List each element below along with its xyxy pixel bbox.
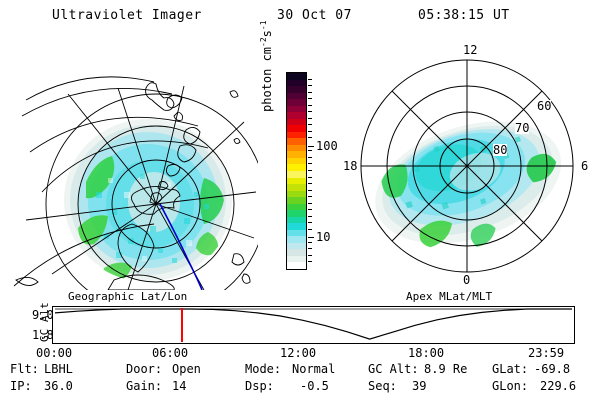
mlt-label-6: 6 (581, 160, 588, 172)
colorbar-minor-tick (308, 248, 312, 249)
orbit-xtick-0: 00:00 (36, 346, 72, 360)
colorbar-minor-tick (308, 137, 312, 138)
meta-mode-value: Normal (292, 362, 335, 376)
orbit-xtick-4: 23:59 (528, 346, 564, 360)
orbit-altitude-plot[interactable] (52, 306, 575, 344)
geographic-map-panel[interactable] (8, 42, 258, 290)
colorbar-minor-tick (308, 209, 312, 210)
colorbar-minor-tick (308, 261, 312, 262)
geographic-map-svg (8, 42, 258, 290)
header-bar: Ultraviolet Imager 30 Oct 07 05:38:15 UT (0, 8, 600, 28)
colorbar-minor-tick (308, 92, 312, 93)
orbit-xtick-1: 06:00 (152, 346, 188, 360)
aurora-emission-apex (360, 100, 580, 274)
mlt-label-12: 12 (463, 44, 477, 56)
aurora-emission-geographic (64, 119, 232, 284)
orbit-xtick-3: 18:00 (408, 346, 444, 360)
colorbar-minor-tick (308, 105, 312, 106)
colorbar-band (287, 262, 306, 269)
apex-panel-caption: Apex MLat/MLT (406, 290, 492, 303)
colorbar-minor-tick (308, 203, 312, 204)
colorbar-minor-tick (308, 118, 312, 119)
colorbar-minor-tick (308, 79, 312, 80)
colorbar-minor-tick (308, 111, 312, 112)
mlt-spokes (361, 60, 573, 272)
geographic-panel-caption: Geographic Lat/Lon (68, 290, 187, 303)
mlat-label-80: 80 (493, 144, 507, 156)
meta-glon-label: GLon: (492, 379, 528, 393)
colorbar-gradient (286, 72, 307, 270)
instrument-title: Ultraviolet Imager (52, 8, 202, 23)
meta-flt-value: LBHL (44, 362, 73, 376)
colorbar-minor-tick (308, 183, 312, 184)
mlat-label-70: 70 (515, 122, 529, 134)
colorbar-minor-tick (308, 216, 312, 217)
mlat-label-60: 60 (537, 100, 551, 112)
colorbar-label-100: 100 (316, 141, 338, 151)
meta-glon-value: 229.6 (540, 379, 576, 393)
colorbar-title-mid: s (260, 30, 274, 37)
observation-time: 05:38:15 UT (418, 8, 510, 23)
colorbar-minor-tick (308, 98, 312, 99)
colorbar-minor-tick (308, 170, 312, 171)
meta-ip-value: 36.0 (44, 379, 73, 393)
metadata-panel: Flt: LBHL Door: Open Mode: Normal GC Alt… (0, 362, 600, 396)
meta-gain-value: 14 (172, 379, 186, 393)
meta-door-value: Open (172, 362, 201, 376)
orbit-altitude-svg (53, 307, 574, 343)
meta-ip-label: IP: (10, 379, 32, 393)
orbit-ytick-high: 9.0 (32, 308, 54, 322)
meta-glat-value: -69.8 (534, 362, 570, 376)
colorbar-minor-tick (308, 255, 312, 256)
orbit-xtick-2: 12:00 (280, 346, 316, 360)
meta-gcalt-value: 8.9 Re (424, 362, 467, 376)
colorbar-minor-tick (308, 150, 312, 151)
colorbar-minor-tick (308, 85, 312, 86)
colorbar-minor-tick (308, 190, 312, 191)
meta-seq-label: Seq: (368, 379, 397, 393)
meta-flt-label: Flt: (10, 362, 39, 376)
colorbar-axis-title: photon cm-2s-1 (259, 0, 274, 112)
colorbar-minor-tick (308, 229, 312, 230)
meta-door-label: Door: (126, 362, 162, 376)
colorbar-title-main: photon cm (260, 47, 274, 112)
meta-gain-label: Gain: (126, 379, 162, 393)
meta-dsp-label: Dsp: (245, 379, 274, 393)
colorbar-minor-tick (308, 222, 312, 223)
colorbar-minor-tick (308, 157, 312, 158)
colorbar-minor-tick (308, 124, 312, 125)
colorbar-tick-10 (308, 237, 314, 238)
colorbar-title-exp2: -1 (259, 20, 268, 30)
metadata-row: Flt: LBHL Door: Open Mode: Normal GC Alt… (0, 362, 600, 379)
mlt-label-18: 18 (343, 160, 357, 172)
colorbar-minor-tick (308, 163, 312, 164)
orbit-ytick-low: 1.8 (32, 328, 54, 342)
meta-gcalt-label: GC Alt: (368, 362, 419, 376)
meta-glat-label: GLat: (492, 362, 528, 376)
colorbar-minor-tick (308, 196, 312, 197)
meta-mode-label: Mode: (245, 362, 281, 376)
mlt-label-0: 0 (463, 274, 470, 286)
altitude-curve (55, 309, 572, 339)
meta-seq-value: 39 (412, 379, 426, 393)
meta-dsp-value: -0.5 (300, 379, 329, 393)
colorbar-minor-tick (308, 131, 312, 132)
metadata-row: IP: 36.0 Gain: 14 Dsp: -0.5 Seq: 39 GLon… (0, 379, 600, 396)
colorbar-minor-tick (308, 242, 312, 243)
colorbar-label-10: 10 (316, 232, 330, 242)
apex-mlt-dial-panel[interactable]: 12 6 0 18 60 70 80 (345, 42, 595, 290)
apex-mlt-dial-svg (345, 42, 595, 290)
colorbar-tick-100 (308, 146, 314, 147)
observation-date: 30 Oct 07 (277, 8, 352, 23)
colorbar-minor-tick (308, 177, 312, 178)
current-time-marker (181, 308, 183, 342)
colorbar-title-exp1: -2 (259, 37, 268, 47)
colorbar[interactable]: 100 10 (286, 72, 307, 270)
